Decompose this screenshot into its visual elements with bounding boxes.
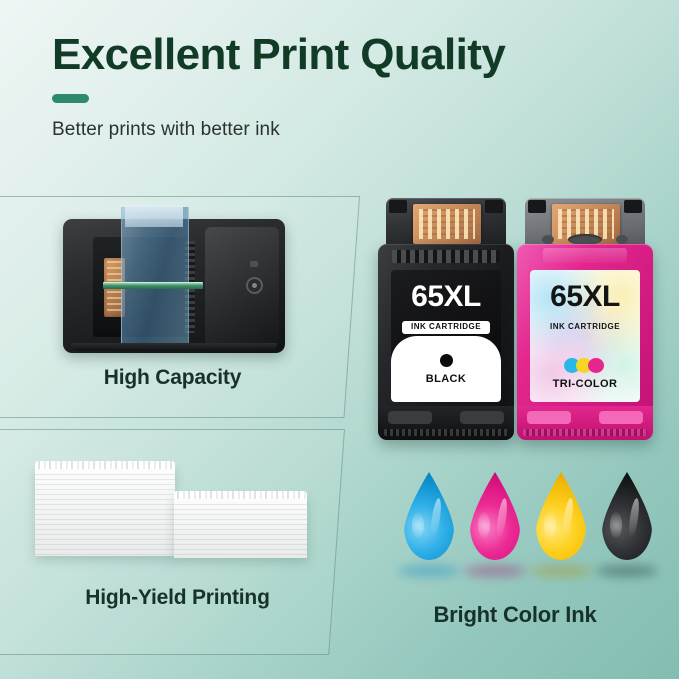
cartridge-color-ink-panel: TRI-COLOR xyxy=(530,347,640,402)
printhead-right-block xyxy=(205,227,279,345)
black-ink-dot-icon xyxy=(440,354,453,367)
drop-shadow-cyan xyxy=(398,565,460,577)
cartridge-black-ink-name: BLACK xyxy=(426,373,467,385)
foot-bar-left xyxy=(388,411,432,424)
cartridge-black-fins xyxy=(392,250,500,263)
tri-color-dot-magenta xyxy=(588,358,604,373)
printhead-ring-icon xyxy=(246,277,263,294)
drop-shape xyxy=(470,472,520,560)
drop-shape xyxy=(536,472,586,560)
cartridge-black-body: 65XL INK CARTRIDGE BLACK xyxy=(378,244,514,440)
chip-pads xyxy=(419,209,475,239)
cartridge-color-top-deck xyxy=(525,198,645,250)
paper-stack-back xyxy=(35,466,175,556)
drop-shape xyxy=(404,472,454,560)
ink-drop-magenta-icon xyxy=(470,472,520,560)
page-title: Excellent Print Quality xyxy=(52,32,632,78)
foot-ridges xyxy=(523,429,647,436)
printhead-protective-tape xyxy=(121,207,189,351)
foot-bar-right xyxy=(460,411,504,424)
drop-shadow-black xyxy=(596,565,658,577)
ink-drop-black-icon xyxy=(602,472,652,560)
foot-bar-right xyxy=(599,411,643,424)
page-subtitle: Better prints with better ink xyxy=(52,119,632,141)
cartridge-color-label-upper: 65XL INK CARTRIDGE xyxy=(530,270,640,334)
deck-notch-left xyxy=(389,200,407,213)
cartridge-black-model: 65XL xyxy=(391,282,501,312)
cartridge-color-badge: INK CARTRIDGE xyxy=(541,321,629,334)
deck-vent-dot-right xyxy=(616,235,628,244)
contact-chip-icon xyxy=(413,204,481,244)
cartridge-color-foot xyxy=(517,406,653,440)
label-high-capacity: High Capacity xyxy=(0,366,345,390)
deck-notch-right xyxy=(485,200,503,213)
cartridge-tri-color: 65XL INK CARTRIDGE TRI-COLOR xyxy=(517,198,653,440)
product-feature-banner: Excellent Print Quality Better prints wi… xyxy=(0,0,679,679)
cartridge-color-ink-name: TRI-COLOR xyxy=(553,378,618,390)
cartridge-color-body: 65XL INK CARTRIDGE TRI-COLOR xyxy=(517,244,653,440)
drop-shadow-magenta xyxy=(464,565,526,577)
cartridge-color-tab xyxy=(543,248,627,263)
tri-color-dots-icon xyxy=(564,358,606,373)
printhead-image xyxy=(63,219,285,353)
header: Excellent Print Quality Better prints wi… xyxy=(52,32,632,141)
drop-shape xyxy=(602,472,652,560)
cartridge-black-foot xyxy=(378,406,514,440)
deck-vent-dot-left xyxy=(542,235,554,244)
cartridge-black-top-deck xyxy=(386,198,506,250)
foot-bar-left xyxy=(527,411,571,424)
cartridge-color-model: 65XL xyxy=(530,282,640,312)
printhead-bottom-lip xyxy=(71,343,277,351)
printhead-nozzle-strip xyxy=(103,282,203,289)
drop-shadow-yellow xyxy=(530,565,592,577)
cartridge-black-label-upper: 65XL INK CARTRIDGE xyxy=(391,270,501,334)
cartridge-black-badge: INK CARTRIDGE xyxy=(402,321,490,334)
accent-dash xyxy=(52,94,89,103)
label-high-yield: High-Yield Printing xyxy=(0,586,355,610)
printhead-marker-dot xyxy=(250,261,258,267)
deck-notch-right xyxy=(624,200,642,213)
cartridge-black-label: 65XL INK CARTRIDGE BLACK xyxy=(391,270,501,402)
deck-notch-left xyxy=(528,200,546,213)
ink-drop-yellow-icon xyxy=(536,472,586,560)
ink-drop-cyan-icon xyxy=(404,472,454,560)
cartridge-black-ink-panel: BLACK xyxy=(391,336,501,402)
label-bright-color: Bright Color Ink xyxy=(380,602,650,628)
cartridge-black: 65XL INK CARTRIDGE BLACK xyxy=(378,198,514,440)
foot-ridges xyxy=(384,429,508,436)
paper-stack-front xyxy=(174,496,307,558)
cartridge-color-label: 65XL INK CARTRIDGE TRI-COLOR xyxy=(530,270,640,402)
printhead-tape-pull-tab xyxy=(125,205,183,227)
ink-drops-group xyxy=(404,472,652,582)
